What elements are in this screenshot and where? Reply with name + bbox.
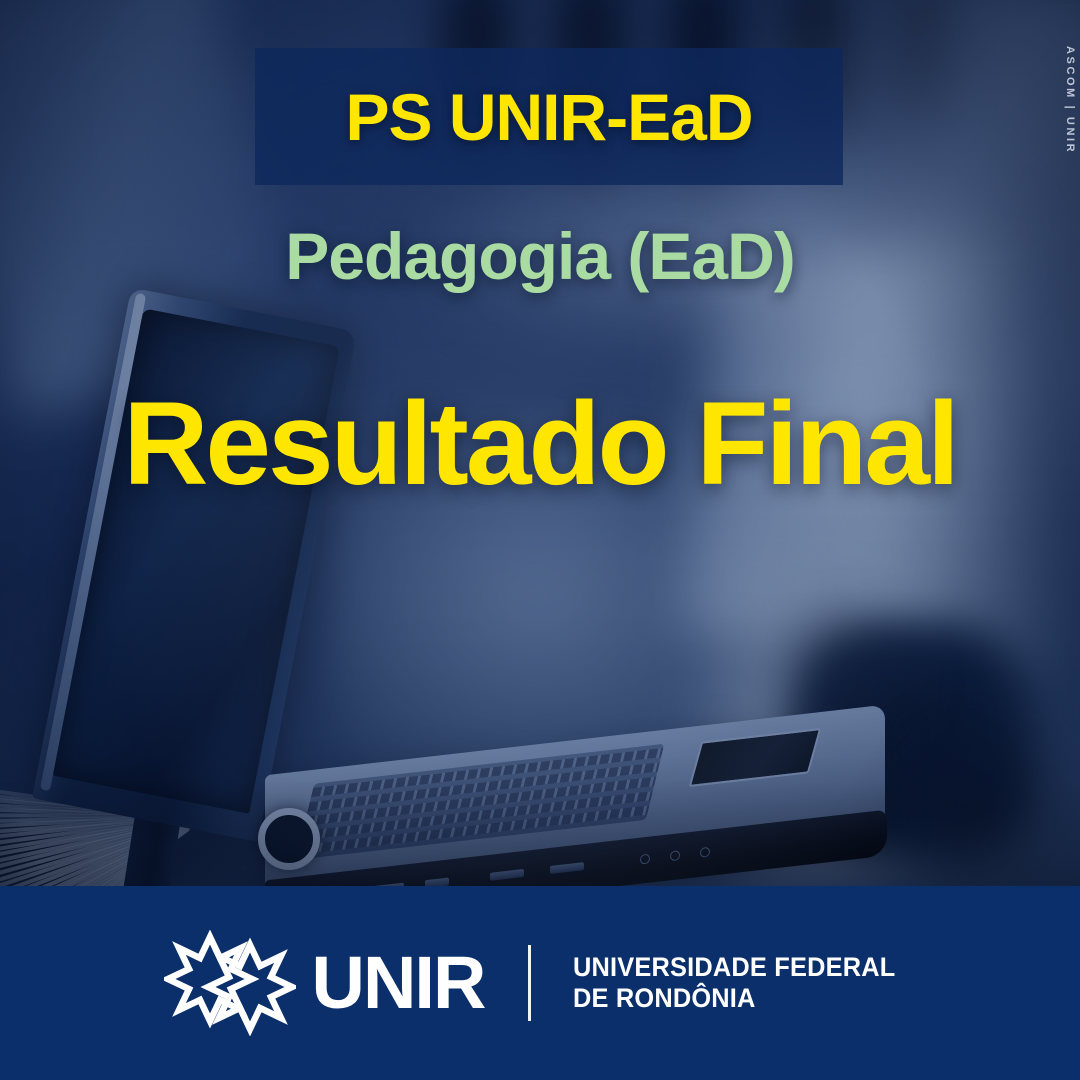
poster: PS UNIR-EaD Pedagogia (EaD) Resultado Fi…	[0, 0, 1080, 1080]
university-name: UNIVERSIDADE FEDERAL DE RONDÔNIA	[573, 952, 895, 1015]
unir-logo: UNIR UNIVERSIDADE FEDERAL DE RONDÔNIA	[164, 930, 917, 1036]
university-name-line2: DE RONDÔNIA	[573, 983, 756, 1013]
ascom-credit: ASCOM | UNIR	[1064, 46, 1076, 154]
headline: Resultado Final	[0, 385, 1080, 503]
university-name-line1: UNIVERSIDADE FEDERAL	[573, 952, 895, 982]
logo-divider	[528, 945, 531, 1021]
unir-wordmark: UNIR	[312, 946, 485, 1020]
title-band: PS UNIR-EaD	[255, 48, 843, 185]
footer-bar: UNIR UNIVERSIDADE FEDERAL DE RONDÔNIA	[0, 886, 1080, 1080]
course-subtitle: Pedagogia (EaD)	[0, 218, 1080, 294]
unir-double-star-logo-icon	[164, 930, 296, 1036]
title-band-text: PS UNIR-EaD	[345, 79, 752, 155]
